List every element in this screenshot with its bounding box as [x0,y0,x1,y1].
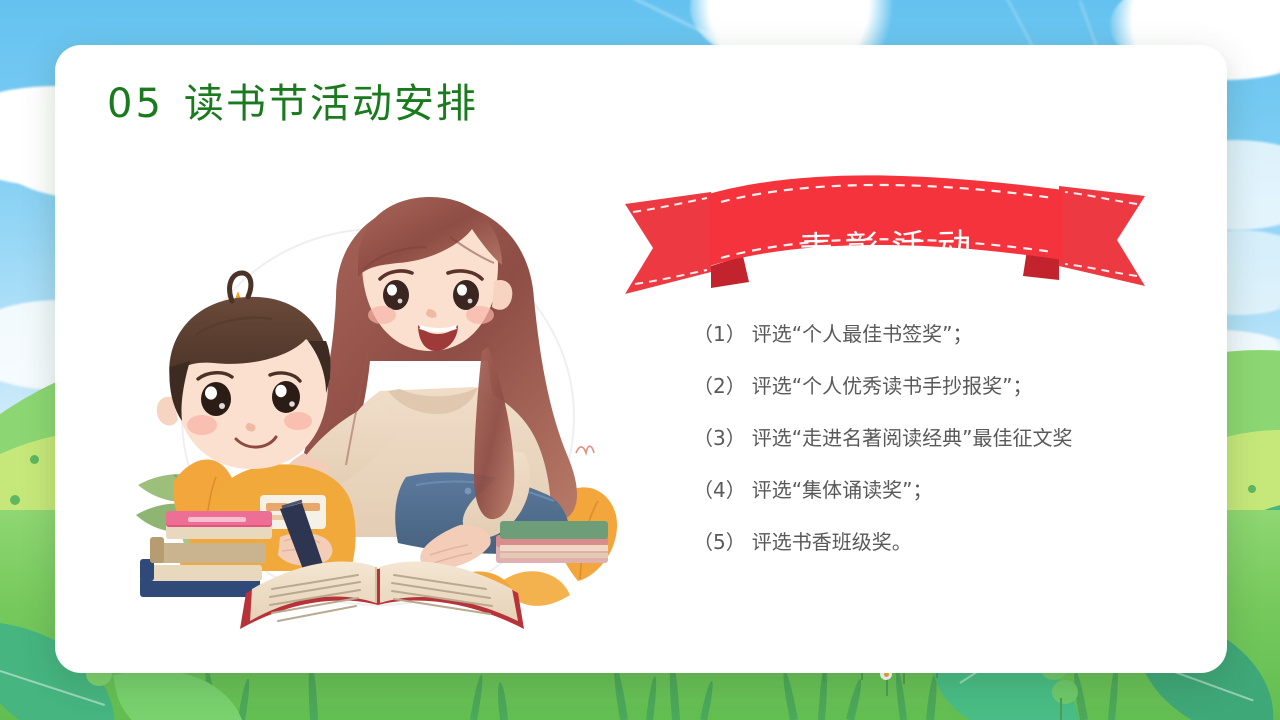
list-item: （4）评选“集体诵读奖”； [693,476,1173,504]
hill-speck [1248,485,1256,493]
list-item-text: 评选“走进名著阅读经典”最佳征文奖 [752,426,1073,450]
list-item-text: 评选“集体诵读奖”； [752,478,933,502]
page-title: 05读书节活动安排 [107,71,478,129]
green-book [496,521,608,563]
list-item-index: （4） [693,478,746,502]
list-item-index: （3） [693,426,746,450]
list-item: （1）评选“个人最佳书签奖”； [693,320,1173,348]
hill-speck [30,455,39,464]
list-item-index: （1） [693,322,746,346]
list-item-text: 评选书香班级奖。 [752,530,912,554]
illustration-mother-and-child-reading [130,185,640,665]
banner-ribbon: 表彰活动 [625,178,1145,303]
clover-icon [1052,680,1078,704]
slide-card: 05读书节活动安排 [55,45,1227,673]
section-number: 05 [107,81,164,127]
list-item: （5）评选书香班级奖。 [693,528,1173,556]
activity-list: （1）评选“个人最佳书签奖”； （2）评选“个人优秀读书手抄报奖”； （3）评选… [693,320,1173,580]
hill-speck [10,495,20,505]
title-text: 读书节活动安排 [184,81,478,127]
clover-stem [1060,698,1062,720]
list-item-text: 评选“个人最佳书签奖”； [752,322,973,346]
list-item-index: （5） [693,530,746,554]
list-item-index: （2） [693,374,746,398]
list-item-text: 评选“个人优秀读书手抄报奖”； [752,374,1033,398]
list-item: （2）评选“个人优秀读书手抄报奖”； [693,372,1173,400]
list-item: （3）评选“走进名著阅读经典”最佳征文奖 [693,424,1173,452]
signature-mark [576,446,594,453]
